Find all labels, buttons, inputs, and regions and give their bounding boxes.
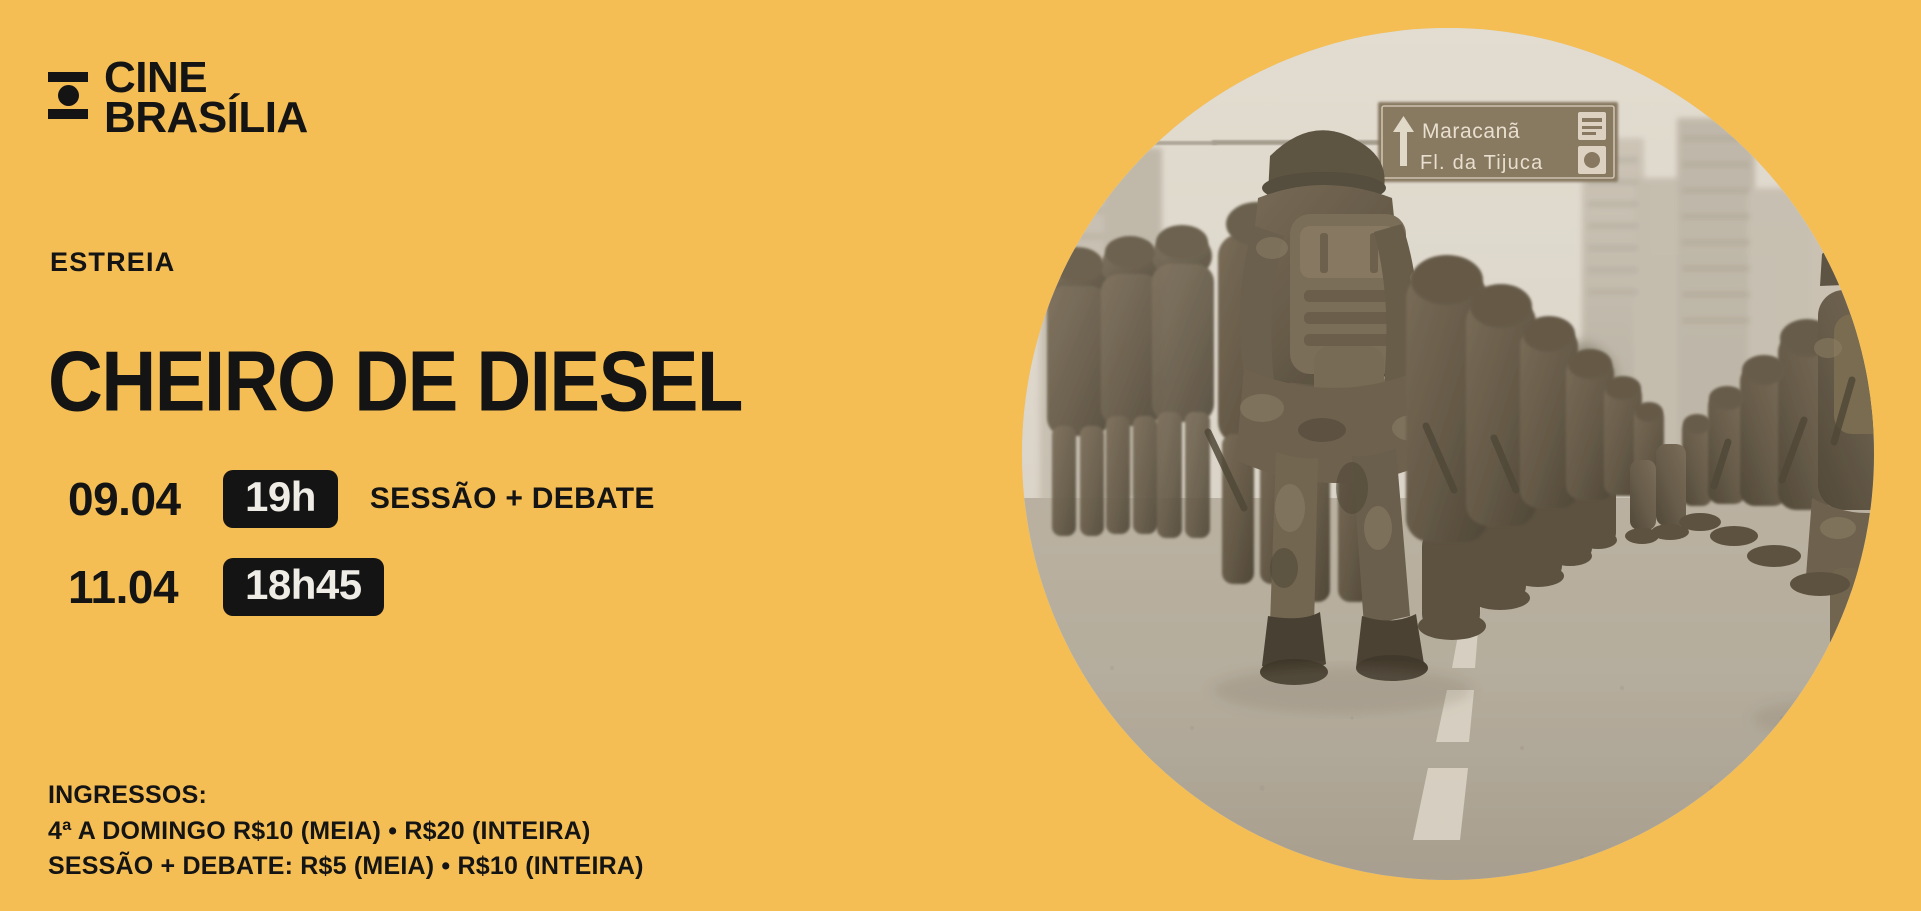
- event-poster: Maracanã Fl. da Tijuca: [0, 0, 1921, 911]
- tickets-line-2: SESSÃO + DEBATE: R$5 (MEIA) • R$10 (INTE…: [48, 849, 644, 885]
- session-time-badge: 18h45: [223, 558, 384, 616]
- session-date: 09.04: [68, 472, 223, 526]
- cine-brasilia-logo[interactable]: CINE BRASÍLIA: [48, 58, 308, 139]
- tickets-heading: INGRESSOS:: [48, 778, 644, 814]
- session-time-badge: 19h: [223, 470, 338, 528]
- tickets-line-1: 4ª A DOMINGO R$10 (MEIA) • R$20 (INTEIRA…: [48, 814, 644, 850]
- ticket-prices: INGRESSOS: 4ª A DOMINGO R$10 (MEIA) • R$…: [48, 778, 644, 885]
- session-row: 11.04 18h45: [68, 554, 655, 620]
- premiere-kicker: ESTREIA: [50, 247, 175, 278]
- marching-soldiers-illustration: Maracanã Fl. da Tijuca: [1022, 28, 1874, 880]
- session-row: 09.04 19h SESSÃO + DEBATE: [68, 466, 655, 532]
- film-title: CHEIRO DE DIESEL: [48, 333, 742, 430]
- logo-line-2: BRASÍLIA: [104, 98, 308, 138]
- film-projector-icon: [48, 62, 88, 124]
- film-still-photo: Maracanã Fl. da Tijuca: [1022, 28, 1874, 880]
- session-note: SESSÃO + DEBATE: [370, 482, 655, 516]
- logo-wordmark: CINE BRASÍLIA: [104, 58, 308, 139]
- session-list: 09.04 19h SESSÃO + DEBATE 11.04 18h45: [68, 466, 655, 642]
- poster-text-column: CINE BRASÍLIA ESTREIA CHEIRO DE DIESEL 0…: [0, 0, 1030, 911]
- session-date: 11.04: [68, 560, 223, 614]
